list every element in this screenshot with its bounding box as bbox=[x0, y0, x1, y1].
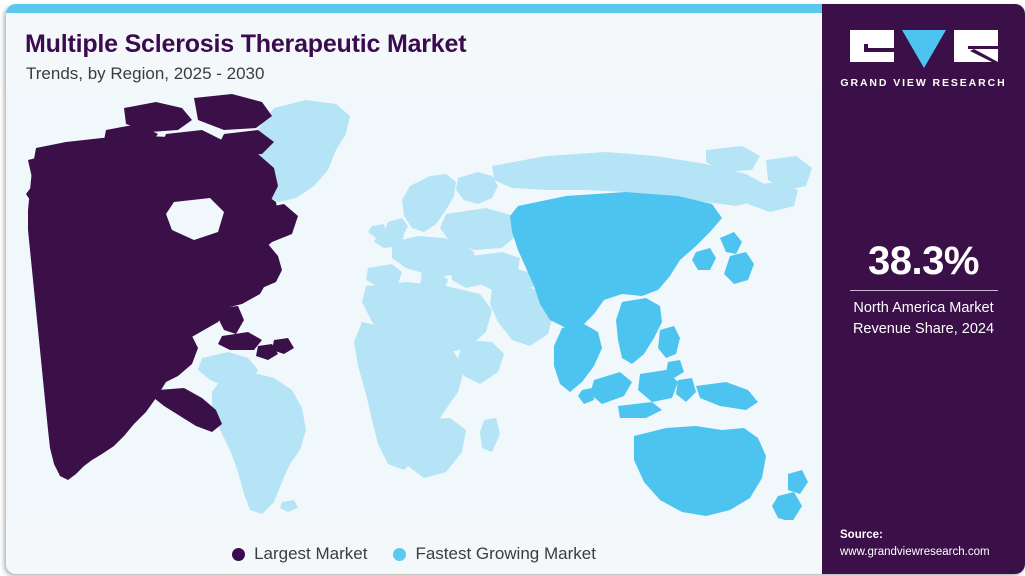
stat-divider bbox=[850, 290, 998, 291]
info-panel: GRAND VIEW RESEARCH 38.3% North America … bbox=[822, 4, 1025, 574]
brand-wordmark: GRAND VIEW RESEARCH bbox=[822, 77, 1025, 89]
legend-label: Largest Market bbox=[254, 544, 367, 564]
stat-value: 38.3% bbox=[822, 240, 1025, 282]
source-url[interactable]: www.grandviewresearch.com bbox=[840, 544, 1025, 561]
top-accent-bar bbox=[6, 4, 822, 13]
legend-dot-icon bbox=[232, 548, 245, 561]
legend: Largest Market Fastest Growing Market bbox=[6, 534, 822, 574]
map-pane: Multiple Sclerosis Therapeutic Market Tr… bbox=[6, 4, 822, 574]
page-subtitle: Trends, by Region, 2025 - 2030 bbox=[26, 64, 264, 84]
infographic-card: Multiple Sclerosis Therapeutic Market Tr… bbox=[6, 4, 1025, 574]
legend-item-largest-market: Largest Market bbox=[232, 544, 367, 564]
stat-caption-line-1: North America Market bbox=[822, 298, 1025, 319]
source-block: Source: www.grandviewresearch.com bbox=[840, 527, 1025, 562]
page-title: Multiple Sclerosis Therapeutic Market bbox=[25, 30, 466, 59]
legend-item-fastest-growing-market: Fastest Growing Market bbox=[393, 544, 595, 564]
brand-logo: GRAND VIEW RESEARCH bbox=[822, 28, 1025, 89]
world-map bbox=[6, 90, 822, 520]
source-label: Source: bbox=[840, 527, 1025, 544]
world-map-svg bbox=[6, 90, 822, 520]
legend-dot-icon bbox=[393, 548, 406, 561]
stat-caption-line-2: Revenue Share, 2024 bbox=[822, 319, 1025, 340]
legend-label: Fastest Growing Market bbox=[415, 544, 595, 564]
stat-block: 38.3% North America Market Revenue Share… bbox=[822, 240, 1025, 339]
gvr-logo-icon bbox=[850, 28, 998, 70]
